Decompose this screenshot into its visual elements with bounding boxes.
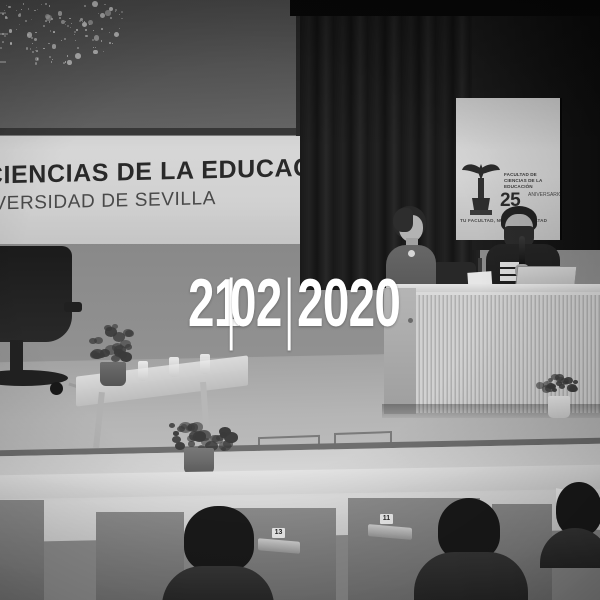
plant-pot bbox=[184, 448, 214, 474]
chair-armrest bbox=[64, 302, 82, 312]
banner-anniversary-suffix: ANIVERSARIO bbox=[528, 192, 560, 198]
wall-signage-panel: E CIENCIAS DE LA EDUCACIÓN NIVERSIDAD DE… bbox=[0, 136, 312, 244]
signage-university-line: NIVERSIDAD DE SEVILLA bbox=[0, 186, 312, 217]
chair-backrest bbox=[0, 246, 72, 342]
audience-seating: 13 11 bbox=[0, 478, 600, 600]
seat-number-label: 11 bbox=[380, 514, 393, 524]
water-glass bbox=[169, 357, 179, 377]
screen-frame-bottom bbox=[0, 128, 300, 135]
lecture-hall-photograph: E CIENCIAS DE LA EDUCACIÓN NIVERSIDAD DE… bbox=[0, 0, 600, 600]
plant-foliage bbox=[88, 324, 138, 366]
seat-number-label: 13 bbox=[272, 528, 285, 538]
stage-curtain-top-band bbox=[290, 0, 600, 16]
audience-head bbox=[184, 506, 254, 572]
seat-back-panel bbox=[0, 500, 44, 600]
small-potted-plant bbox=[536, 372, 584, 420]
signage-faculty-line: E CIENCIAS DE LA EDUCACIÓN bbox=[0, 154, 312, 192]
floor-plant bbox=[168, 420, 238, 476]
projection-screen bbox=[0, 0, 300, 132]
plant-pot bbox=[548, 396, 570, 418]
banner-title: FACULTAD DE CIENCIAS DE LA EDUCACIÓN bbox=[504, 172, 560, 190]
water-glass bbox=[200, 354, 210, 374]
presenter-desk-side bbox=[384, 288, 416, 414]
necklace bbox=[408, 250, 415, 257]
desk-knob bbox=[408, 318, 413, 323]
chair-castor bbox=[50, 382, 63, 395]
hair-fringe bbox=[393, 208, 413, 232]
water-glass bbox=[138, 361, 148, 381]
audience-head-with-cap bbox=[438, 498, 500, 560]
audience-shoulders bbox=[414, 552, 528, 600]
